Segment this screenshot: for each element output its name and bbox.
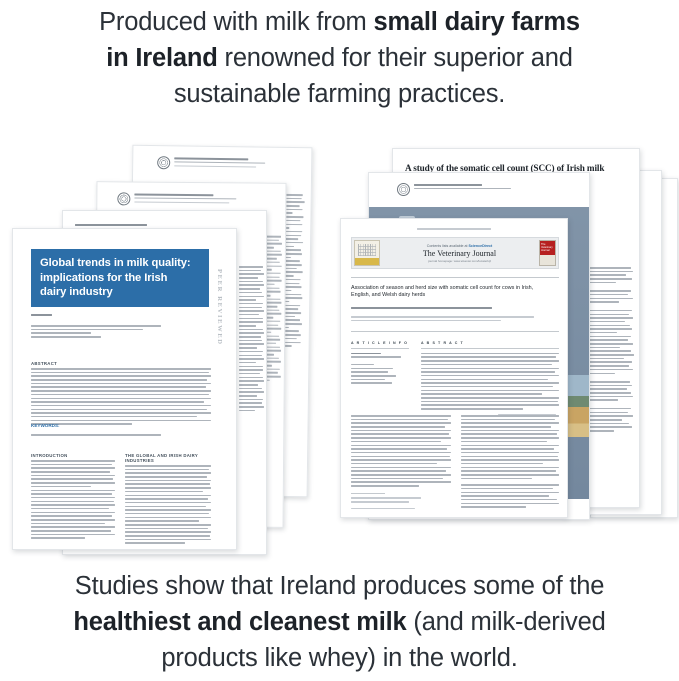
headline-top-line-2-plain: renowned for their superior and [218,44,573,72]
sciencedirect-link[interactable]: ScienceDirect [468,244,492,248]
citation-block-2 [117,192,247,206]
right-sheet-front-vetjournal[interactable]: Contents lists available at ScienceDirec… [340,218,568,518]
headline-top-line-2: in Ireland renowned for their superior a… [6,40,673,76]
journal-cover-label: The Veterinary Journal [540,241,555,252]
headline-top-line-1-bold: small dairy farms [373,8,579,36]
vj-top-note [417,228,491,232]
headline-bottom-line-2-plain: (and milk-derived [407,608,606,636]
divider-mid [351,331,559,332]
journal-cover-thumbnail: The Veterinary Journal [539,240,556,266]
headline-top: Produced with milk from small dairy farm… [0,4,679,112]
article-section-introduction: INTRODUCTION [31,453,115,541]
headline-bottom-line-3: products like whey) in the world. [6,640,673,676]
headline-bottom-line-1: Studies show that Ireland produces some … [6,568,673,604]
article-title-band: Global trends in milk quality: implicati… [31,249,209,307]
vj-body-right-column [461,415,559,510]
vj-article-title-line-2: English, and Welsh dairy herds [351,292,559,299]
article-section-industries: THE GLOBAL AND IRISH DAIRY INDUSTRIES [125,453,211,546]
vj-header-center: Contents lists available at ScienceDirec… [382,243,537,264]
headline-top-line-2-bold: in Ireland [106,44,217,72]
headline-bottom-line-2-bold: healthiest and cleanest milk [73,608,406,636]
citation-lines [134,193,247,206]
introduction-heading: INTRODUCTION [31,453,115,458]
article-title-line-2: implications for the Irish [40,271,200,286]
article-info-heading: A R T I C L E I N F O [351,341,409,345]
headline-bottom: Studies show that Ireland produces some … [0,568,679,676]
right-document-stack: A study of the somatic cell count (SCC) … [340,140,679,550]
citation-block-1 [157,156,277,171]
divider-top [351,277,559,278]
elsevier-logo-icon [354,240,380,266]
vj-article-title: Association of season and herd size with… [351,285,559,300]
headline-bottom-line-2: healthiest and cleanest milk (and milk-d… [6,604,673,640]
body-column [239,266,265,414]
abstract-heading: ABSTRACT [31,361,211,366]
headline-top-line-3: sustainable farming practices. [6,76,673,112]
veterinary-journal-header: Contents lists available at ScienceDirec… [351,237,559,269]
abstract-heading: A B S T R A C T [421,341,559,345]
journal-seal-icon [397,183,410,196]
vj-affiliations [351,316,559,323]
journal-seal-icon [157,156,170,169]
article-title-line-1: Global trends in milk quality: [40,256,200,271]
journal-name: The Veterinary Journal [384,249,535,258]
industries-heading: THE GLOBAL AND IRISH DAIRY INDUSTRIES [125,453,211,463]
contents-prefix: Contents lists available at [427,244,469,248]
left-document-stack: Global trends in milk quality: implicati… [0,140,340,550]
vj-body-left-column [351,415,451,511]
vj-article-title-line-1: Association of season and herd size with… [351,285,559,292]
peer-reviewed-label: PEER REVIEWED [216,269,223,346]
citation-lines [174,156,277,170]
article-keywords: KEYWORDS: [31,414,211,438]
vj-authors [351,307,559,312]
citation-block-jds [397,183,532,196]
infographic-canvas: Produced with milk from small dairy farm… [0,0,679,681]
vj-abstract: A B S T R A C T [421,341,559,417]
left-sheet-front-article[interactable]: Global trends in milk quality: implicati… [12,228,237,550]
contents-line: Contents lists available at ScienceDirec… [384,244,535,248]
citation-lines [414,183,532,192]
article-title-line-3: dairy industry [40,285,200,300]
article-author [31,314,71,318]
headline-top-line-1: Produced with milk from small dairy farm… [6,4,673,40]
keywords-heading: KEYWORDS: [31,423,60,428]
vj-article-info: A R T I C L E I N F O [351,341,409,386]
article-affiliation [31,325,161,340]
headline-top-line-1-plain: Produced with milk from [99,8,373,36]
journal-seal-icon [117,192,130,205]
journal-homepage-url[interactable]: journal homepage: www.elsevier.com/locat… [384,259,535,263]
